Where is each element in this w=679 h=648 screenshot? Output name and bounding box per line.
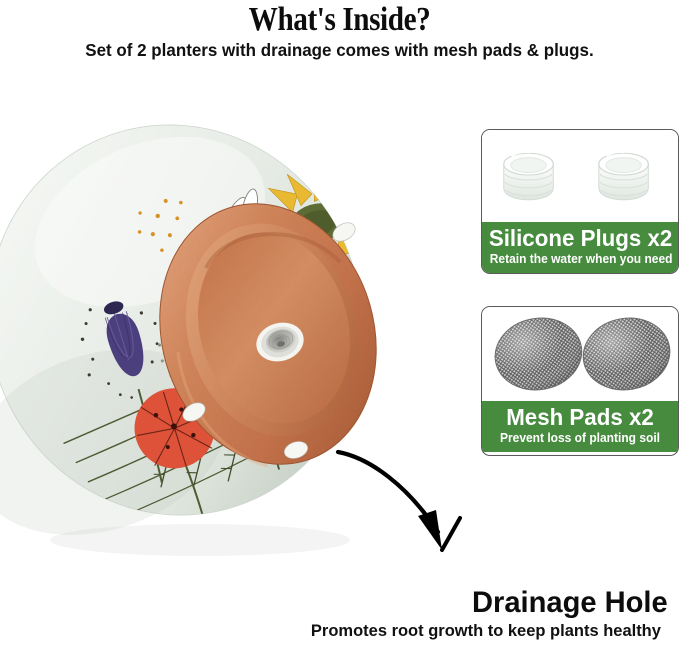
- planter-svg: [0, 72, 470, 572]
- flower-berry-spray: [358, 456, 423, 526]
- silicone-plugs-photo: [482, 130, 678, 222]
- page-subtitle: Set of 2 planters with drainage comes wi…: [10, 40, 669, 61]
- mesh-pads-photo: [482, 307, 678, 401]
- callout-card-mesh-pads[interactable]: Mesh Pads x2 Prevent loss of planting so…: [481, 306, 679, 456]
- silicone-plug-rings-icon: [482, 130, 678, 222]
- silicone-plugs-label-band: Silicone Plugs x2 Retain the water when …: [482, 222, 678, 273]
- annotation-subtitle: Promotes root growth to keep plants heal…: [10, 620, 661, 641]
- mesh-pads-label-band: Mesh Pads x2 Prevent loss of planting so…: [482, 401, 678, 452]
- silicone-plugs-subtitle: Retain the water when you need: [490, 252, 670, 267]
- mesh-pads-subtitle: Prevent loss of planting soil: [490, 431, 670, 446]
- mesh-disc-right: [577, 311, 675, 396]
- silicone-plugs-title: Silicone Plugs x2: [489, 225, 671, 252]
- annotation-title: Drainage Hole: [472, 586, 668, 619]
- callout-card-silicone-plugs[interactable]: Silicone Plugs x2 Retain the water when …: [481, 129, 679, 274]
- flower-pod-purple-right: [340, 99, 415, 276]
- mesh-pad-discs-icon: [482, 307, 678, 401]
- header: What's Inside? Set of 2 planters with dr…: [0, 0, 679, 61]
- infographic-page: What's Inside? Set of 2 planters with dr…: [0, 0, 679, 648]
- drainage-hole-annotation: Drainage Hole Promotes root growth to ke…: [0, 586, 679, 641]
- product-illustration: [0, 72, 470, 572]
- plug-left: [504, 152, 553, 200]
- flower-pod-sage: [389, 94, 462, 266]
- page-title: What's Inside?: [48, 0, 632, 38]
- plug-right: [599, 152, 648, 200]
- mesh-pads-title: Mesh Pads x2: [489, 404, 671, 431]
- mesh-disc-left: [489, 311, 587, 396]
- flower-drooping-bud: [237, 563, 331, 572]
